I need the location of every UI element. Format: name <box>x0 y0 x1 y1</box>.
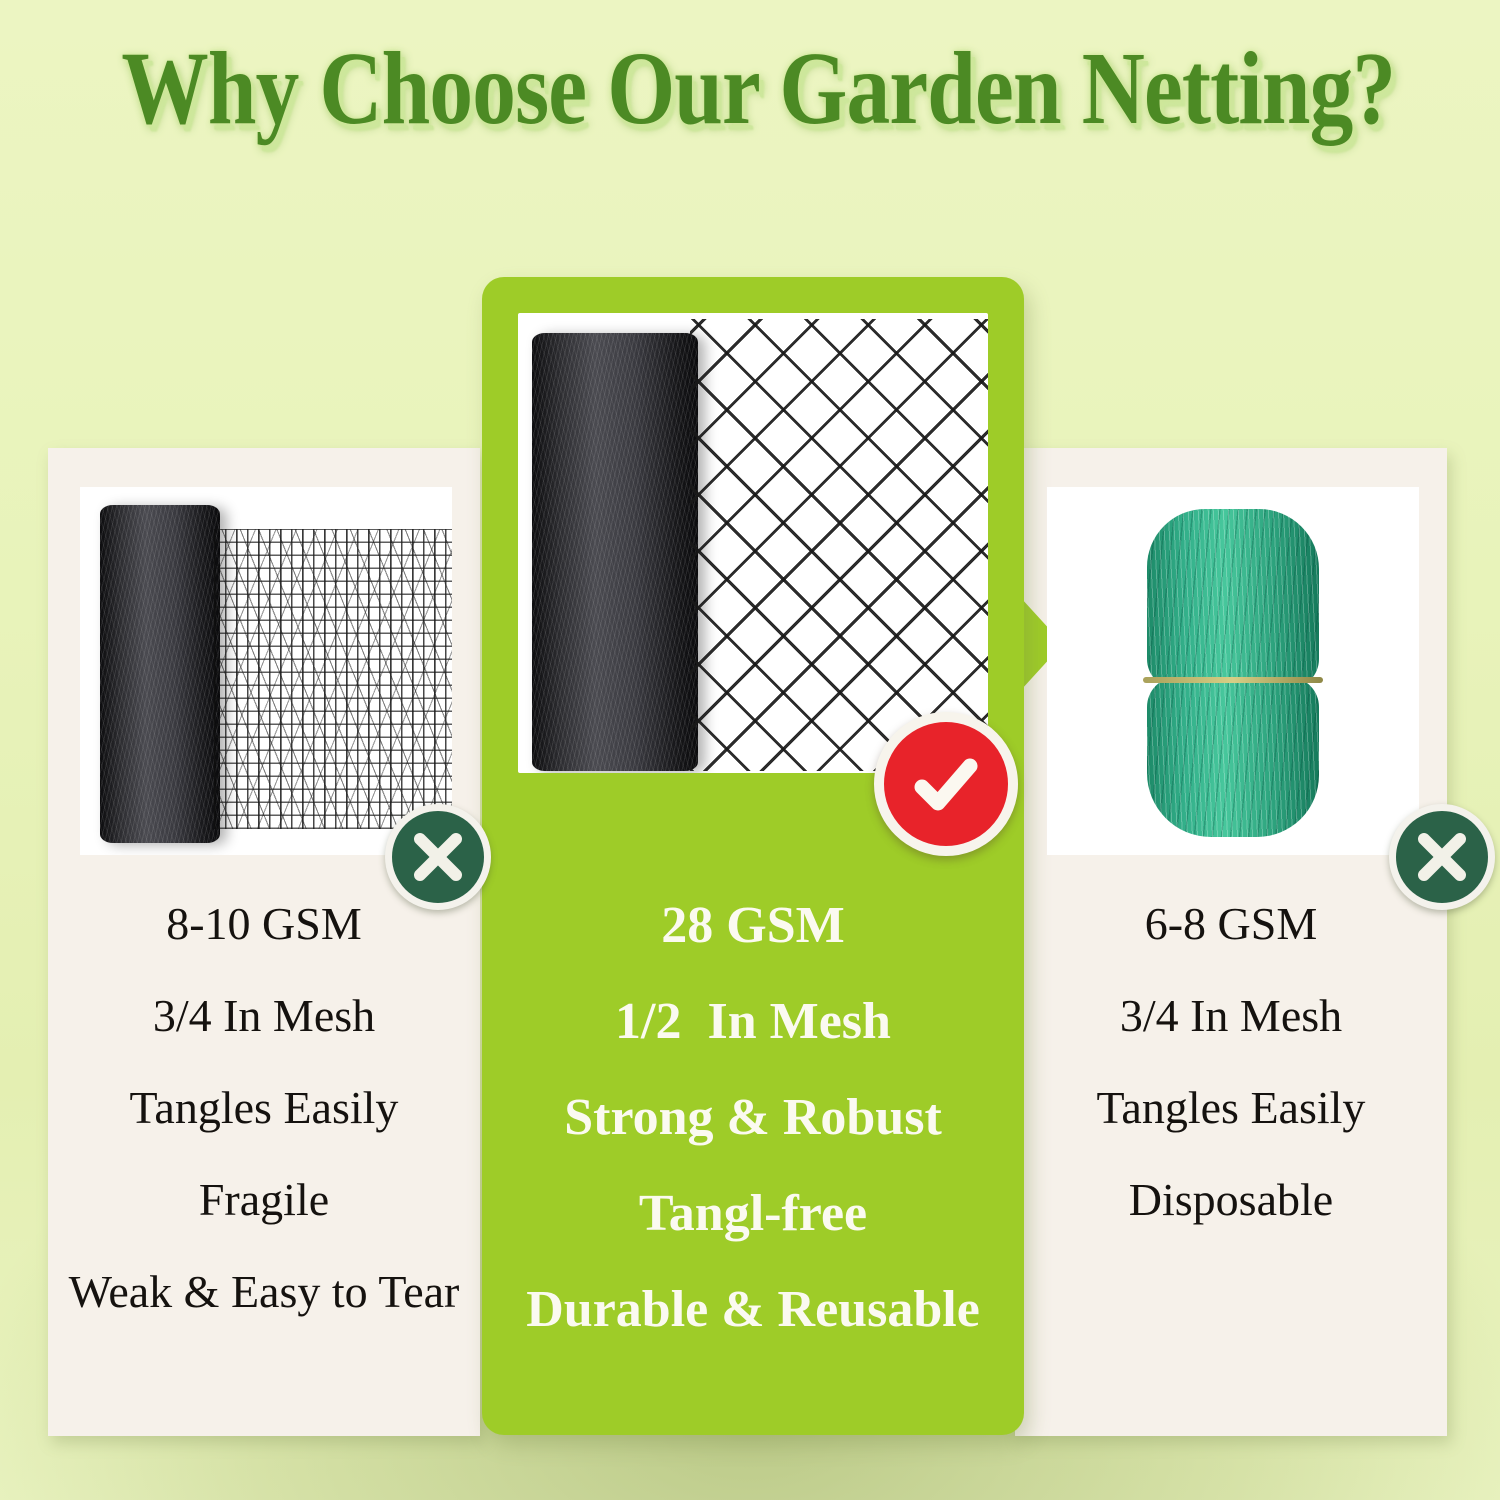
list-item: Tangles Easily <box>48 1062 480 1154</box>
bundle-tie <box>1143 677 1323 683</box>
x-mark-icon <box>385 804 491 910</box>
list-item: 28 GSM <box>482 878 1024 974</box>
list-item: Tangles Easily <box>1015 1062 1447 1154</box>
list-item: 3/4 In Mesh <box>48 970 480 1062</box>
product-image-left <box>80 487 452 855</box>
list-item: 6-8 GSM <box>1015 878 1447 970</box>
list-item: Strong & Robust <box>482 1070 1024 1166</box>
title-container: Why Choose Our Garden Netting? <box>0 34 1500 143</box>
list-item: Disposable <box>1015 1154 1447 1246</box>
list-item: 3/4 In Mesh <box>1015 970 1447 1062</box>
x-mark-icon <box>1389 804 1495 910</box>
feature-list-left: 8-10 GSM 3/4 In Mesh Tangles Easily Frag… <box>48 878 480 1338</box>
feature-list-center: 28 GSM 1/2 In Mesh Strong & Robust Tangl… <box>482 878 1024 1358</box>
feature-list-right: 6-8 GSM 3/4 In Mesh Tangles Easily Dispo… <box>1015 878 1447 1246</box>
list-item: Weak & Easy to Tear <box>48 1246 480 1338</box>
netting-roll-icon <box>100 505 220 843</box>
check-mark-icon <box>874 712 1018 856</box>
page-title: Why Choose Our Garden Netting? <box>121 34 1395 143</box>
list-item: Fragile <box>48 1154 480 1246</box>
list-item: Durable & Reusable <box>482 1262 1024 1358</box>
green-netting-bundle-icon <box>1147 509 1319 835</box>
netting-roll-icon <box>532 333 698 771</box>
fine-mesh-texture <box>214 529 452 829</box>
infographic-canvas: Why Choose Our Garden Netting? 8-10 GSM … <box>0 0 1500 1500</box>
bundle-bottom-lobe <box>1147 677 1319 837</box>
product-image-center <box>518 313 988 773</box>
diamond-mesh-texture <box>690 319 988 771</box>
list-item: 1/2 In Mesh <box>482 974 1024 1070</box>
product-image-right <box>1047 487 1419 855</box>
list-item: Tangl-free <box>482 1166 1024 1262</box>
bundle-top-lobe <box>1147 509 1319 689</box>
